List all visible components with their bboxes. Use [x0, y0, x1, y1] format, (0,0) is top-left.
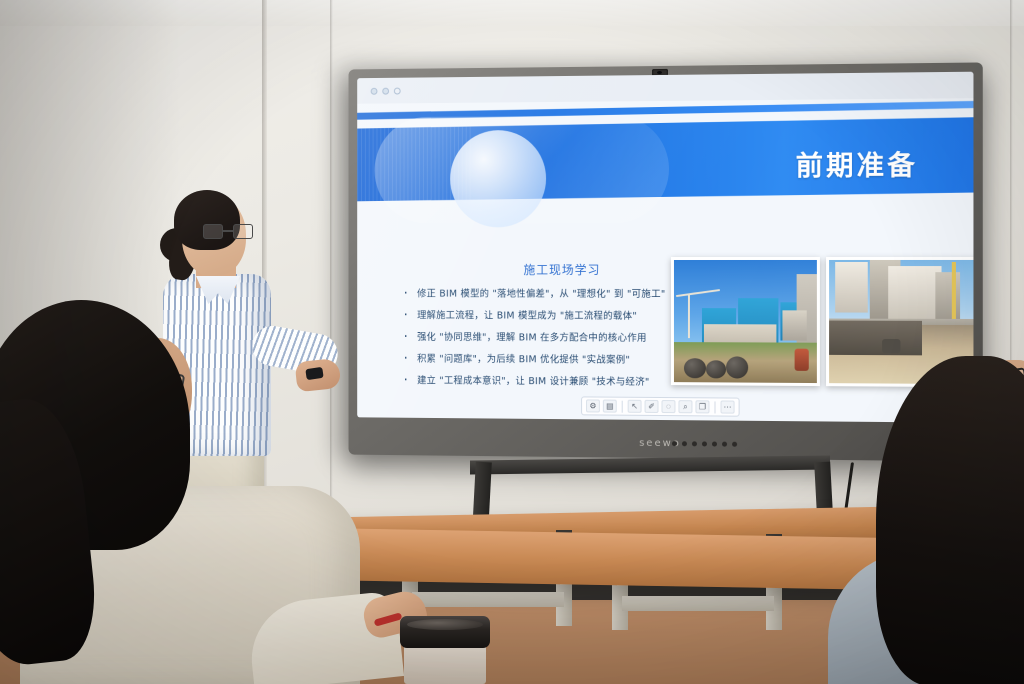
- window-dot-3[interactable]: [394, 87, 401, 94]
- slide-title: 前期准备: [796, 143, 918, 183]
- speaker-dot: [712, 442, 717, 447]
- speaker-dot: [722, 442, 727, 447]
- glasses-lens-right: [233, 224, 253, 239]
- photo2-retaining-wall: [829, 321, 922, 356]
- photo2-structure-main: [888, 266, 941, 323]
- presentation-slide[interactable]: 前期准备 施工现场学习 修正 BIM 模型的 "落地性偏差"，从 "理想化" 到…: [357, 72, 973, 423]
- section-heading: 施工现场学习: [415, 261, 711, 278]
- chair-rail-bottom: [622, 596, 774, 611]
- speaker-dot: [702, 441, 707, 446]
- screenshot-icon[interactable]: ❐: [695, 400, 709, 413]
- photo2-highrise-left: [835, 262, 868, 313]
- presenter-hair: [174, 190, 240, 250]
- photo1-pipe: [706, 360, 726, 378]
- photo2-excavator: [882, 339, 900, 353]
- presentation-clicker[interactable]: [305, 367, 323, 380]
- display-screen[interactable]: 前期准备 施工现场学习 修正 BIM 模型的 "落地性偏差"，从 "理想化" 到…: [357, 72, 973, 423]
- photo1-crane-mast: [688, 294, 690, 338]
- water-tumbler-lid[interactable]: [400, 616, 490, 648]
- pen-settings-icon[interactable]: ⚙: [586, 399, 600, 412]
- save-icon[interactable]: ▤: [603, 400, 617, 413]
- photo2-crane: [952, 262, 956, 321]
- annotation-toolbar[interactable]: ⚙ ▤ ↖ ✐ ◌ ⌕ ❐ ⋯: [581, 396, 740, 416]
- glasses-lens-left: [203, 224, 223, 239]
- zoom-icon[interactable]: ⌕: [678, 400, 692, 413]
- meeting-room-scene: 前期准备 施工现场学习 修正 BIM 模型的 "落地性偏差"，从 "理想化" 到…: [0, 0, 1024, 684]
- photo2-structure-right: [935, 272, 960, 323]
- speaker-dot: [672, 441, 677, 446]
- chair-rail-bottom: [412, 592, 564, 607]
- speaker-dot: [692, 441, 697, 446]
- wall-panel-edge: [330, 0, 333, 540]
- photo1-pipe: [684, 358, 706, 378]
- construction-photo-1: [671, 257, 820, 386]
- cursor-icon[interactable]: ↖: [628, 400, 642, 413]
- presenter-glasses: [203, 224, 253, 240]
- photo1-barrel: [795, 349, 809, 371]
- photo1-block: [782, 310, 806, 340]
- slide-body: 前期准备 施工现场学习 修正 BIM 模型的 "落地性偏差"，从 "理想化" 到…: [357, 98, 973, 423]
- pen-icon[interactable]: ✐: [645, 400, 659, 413]
- bezel-speaker-grill: [672, 441, 737, 447]
- toolbar-divider: [714, 401, 715, 413]
- window-controls[interactable]: [371, 87, 401, 94]
- eraser-icon[interactable]: ◌: [661, 400, 675, 413]
- decor-circle-shape: [450, 130, 546, 228]
- speaker-dot: [732, 442, 737, 447]
- speaker-dot: [682, 441, 687, 446]
- window-dot-2[interactable]: [382, 87, 389, 94]
- photo1-pipe: [726, 356, 748, 378]
- window-dot-1[interactable]: [371, 87, 378, 94]
- seewo-interactive-display[interactable]: 前期准备 施工现场学习 修正 BIM 模型的 "落地性偏差"，从 "理想化" 到…: [349, 62, 983, 461]
- toolbar-divider: [622, 400, 623, 412]
- more-icon[interactable]: ⋯: [721, 400, 735, 413]
- water-tumbler-body[interactable]: [404, 642, 486, 684]
